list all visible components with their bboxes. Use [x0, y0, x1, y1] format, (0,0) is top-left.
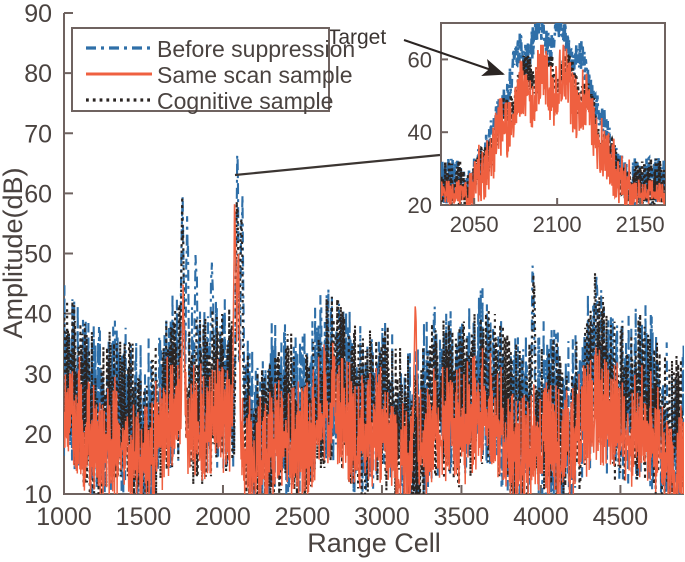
y-tick-label: 60 [24, 180, 52, 208]
y-tick-label: 70 [24, 120, 52, 148]
inset-x-tick-label: 2100 [533, 212, 582, 237]
inset-y-tick-label: 60 [408, 47, 432, 72]
inset-trace-path [441, 45, 665, 205]
legend: Before suppressionSame scan sampleCognit… [72, 28, 355, 114]
x-tick-label: 4000 [513, 503, 569, 531]
chart-canvas: 102030405060708090 100015002000250030003… [0, 0, 685, 562]
inset-x-tick-labels: 205021002150 [450, 212, 665, 237]
y-tick-label: 30 [24, 361, 52, 389]
inset-data-traces [441, 23, 665, 205]
x-tick-label: 4500 [593, 503, 649, 531]
x-tick-label: 3500 [434, 503, 490, 531]
y-axis-title: Amplitude(dB) [0, 167, 28, 338]
inset-x-tick-label: 2050 [450, 212, 499, 237]
inset-y-tick-label: 20 [408, 193, 432, 218]
inset-x-ticks [474, 198, 640, 205]
inset-x-tick-label: 2150 [616, 212, 665, 237]
y-tick-label: 40 [24, 301, 52, 329]
x-tick-label: 2000 [195, 503, 251, 531]
x-axis-tick-labels: 10001500200025003000350040004500 [36, 503, 648, 531]
inset-y-tick-label: 40 [408, 120, 432, 145]
inset-series-same-scan-sample [441, 45, 665, 205]
y-tick-label: 90 [24, 0, 52, 28]
x-tick-label: 3000 [354, 503, 410, 531]
legend-label-0: Before suppression [157, 36, 355, 62]
x-axis-title: Range Cell [307, 528, 441, 558]
y-tick-label: 20 [24, 421, 52, 449]
x-tick-label: 2500 [275, 503, 331, 531]
y-axis-tick-labels: 102030405060708090 [24, 0, 52, 509]
figure-container: 102030405060708090 100015002000250030003… [0, 0, 685, 562]
inset-y-tick-labels: 204060 [408, 47, 432, 218]
inset-connector-line [235, 155, 440, 175]
y-tick-label: 80 [24, 60, 52, 88]
y-tick-label: 50 [24, 241, 52, 269]
legend-label-2: Cognitive sample [157, 88, 333, 114]
x-tick-label: 1000 [36, 503, 92, 531]
legend-label-1: Same scan sample [157, 62, 353, 88]
x-tick-label: 1500 [116, 503, 172, 531]
